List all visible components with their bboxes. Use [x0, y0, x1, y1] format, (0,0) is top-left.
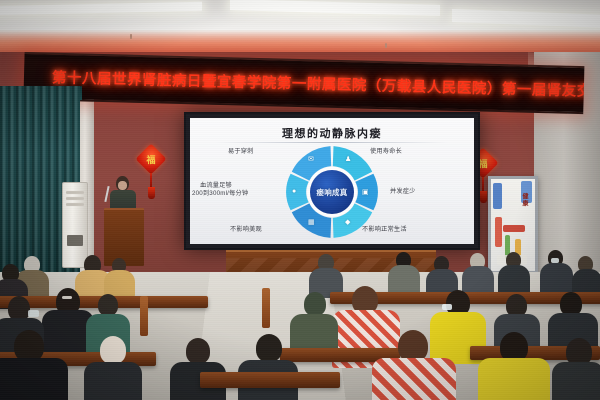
- fu-character-left: 福: [140, 148, 162, 170]
- slide-label-top-left: 易于穿刺: [228, 148, 254, 157]
- bench-support-1: [140, 296, 148, 336]
- card-icon: ▦: [308, 218, 315, 226]
- people-icon: ♟: [345, 155, 351, 163]
- ac-control-panel: [67, 235, 83, 246]
- donut-center: 瘘响成真: [310, 170, 354, 214]
- donut-center-text: 瘘响成真: [316, 187, 347, 198]
- slide-label-top-right: 使用寿命长: [370, 148, 402, 157]
- conference-hall-photo: 第十八届世界肾脏病日暨宜春学院第一附属医院（万载县人民医院）第一届肾友交流会 福…: [0, 0, 600, 400]
- slide-label-right: 并发症少: [390, 188, 416, 197]
- badge-icon: ▣: [362, 188, 369, 196]
- speaker-face: [118, 181, 127, 190]
- bench-support-2: [262, 288, 270, 328]
- ceiling: [0, 0, 600, 58]
- bench-row-3: [200, 372, 340, 388]
- drop-icon: ●: [292, 188, 296, 195]
- slide-label-left-line2: 200到300ml/每分钟: [192, 190, 248, 199]
- donut-diagram: ✉ ♟ ▣ ◆ ▦ ● 瘘响成真: [282, 146, 382, 238]
- ceiling-fixture-dot-1: [130, 34, 132, 39]
- presentation-slide: 理想的动静脉内瘘 ✉ ♟ ▣: [190, 118, 474, 244]
- chinese-knot-decoration-left: 福: [138, 148, 164, 199]
- slide-title: 理想的动静脉内瘘: [190, 125, 474, 141]
- ceiling-fixture-dot-2: [385, 43, 387, 48]
- podium: [104, 208, 144, 266]
- air-conditioner-unit: [62, 182, 88, 268]
- ribbon-icon: ◆: [345, 218, 350, 226]
- slide-label-bottom-left: 不影响美观: [230, 226, 262, 235]
- slide-title-divider: [216, 142, 448, 143]
- projection-screen: 理想的动静脉内瘘 ✉ ♟ ▣: [184, 112, 480, 250]
- runner-icon: ✉: [308, 155, 314, 163]
- slide-label-bottom-right: 不影响正常生活: [362, 226, 407, 235]
- poster-vertical-text: 健康: [520, 193, 529, 207]
- led-banner-text: 第十八届世界肾脏病日暨宜春学院第一附属医院（万载县人民医院）第一届肾友交流会: [52, 66, 585, 101]
